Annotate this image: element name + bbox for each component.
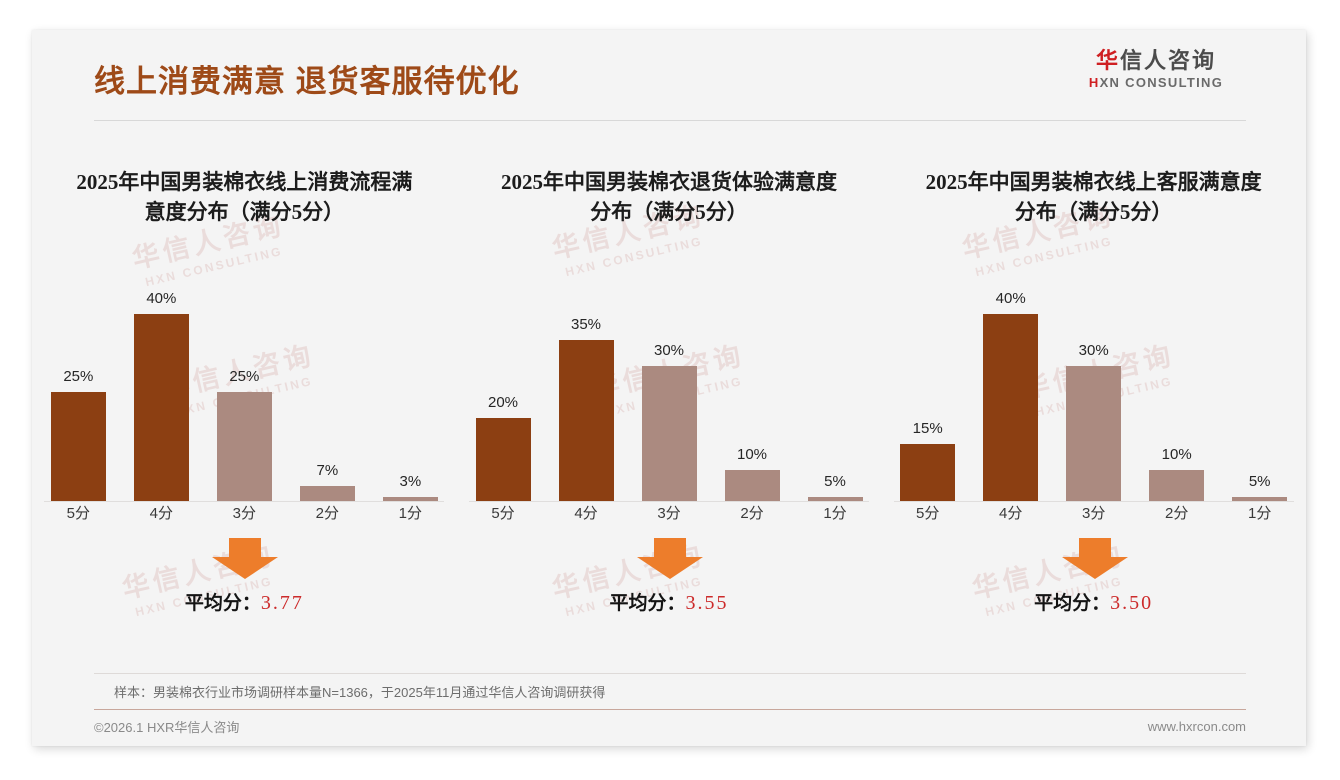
bar[interactable] [383, 497, 438, 501]
average-score-prefix: 平均分： [609, 593, 685, 614]
average-score-value: 3.77 [261, 592, 304, 614]
bar[interactable] [134, 314, 189, 501]
bar[interactable] [300, 486, 355, 501]
bar-group: 40% [127, 272, 195, 501]
bar-group: 25% [210, 272, 278, 501]
chart-panel-3: 2025年中国男装棉衣线上客服满意度分布（满分5分）15%40%30%10%5%… [881, 140, 1306, 670]
slide-header: 线上消费满意 退货客服待优化 华信人咨询 HXN CONSULTING [32, 30, 1306, 122]
arrow-shaft [229, 538, 261, 557]
header-divider [94, 120, 1246, 121]
footer-divider [94, 709, 1246, 710]
bar-value-label: 5% [1249, 473, 1271, 490]
bar-group: 7% [293, 272, 361, 501]
down-arrow-icon [212, 538, 278, 578]
footnote-divider [94, 673, 1246, 674]
bar-value-label: 30% [1079, 342, 1109, 359]
bar[interactable] [808, 497, 863, 501]
bar-group: 20% [469, 272, 537, 501]
average-score-text: 平均分：3.77 [44, 588, 444, 615]
x-axis-tick: 2分 [1143, 502, 1211, 523]
x-axis: 5分4分3分2分1分 [44, 502, 444, 523]
bar-series: 15%40%30%10%5% [894, 272, 1294, 502]
average-score-value: 3.50 [1110, 592, 1153, 614]
slide: 线上消费满意 退货客服待优化 华信人咨询 HXN CONSULTING 华信人咨… [32, 30, 1306, 746]
bar-group: 3% [376, 272, 444, 501]
charts-row: 2025年中国男装棉衣线上消费流程满意度分布（满分5分）25%40%25%7%3… [32, 140, 1306, 670]
bar[interactable] [1149, 470, 1204, 500]
average-score-block: 平均分：3.55 [469, 538, 869, 628]
average-score-prefix: 平均分： [185, 593, 261, 614]
bar-value-label: 25% [229, 368, 259, 385]
copyright-text: ©2026.1 HXR华信人咨询 [94, 717, 239, 736]
x-axis-tick: 1分 [801, 502, 869, 523]
average-score-text: 平均分：3.55 [469, 588, 869, 615]
bar-chart: 15%40%30%10%5%5分4分3分2分1分 [894, 252, 1294, 502]
arrow-head [212, 557, 278, 579]
x-axis-tick: 5分 [469, 502, 537, 523]
logo-english-rest: XN CONSULTING [1100, 75, 1224, 90]
x-axis: 5分4分3分2分1分 [469, 502, 869, 523]
logo-english-accent: H [1089, 75, 1100, 90]
bar[interactable] [559, 340, 614, 501]
bar-group: 30% [1060, 272, 1128, 501]
bar-series: 20%35%30%10%5% [469, 272, 869, 502]
average-score-value: 3.55 [686, 592, 729, 614]
bar[interactable] [725, 470, 780, 500]
bar-group: 10% [1143, 272, 1211, 501]
arrow-head [1062, 557, 1128, 579]
bar[interactable] [217, 392, 272, 501]
bar-chart: 20%35%30%10%5%5分4分3分2分1分 [469, 252, 869, 502]
bar-group: 40% [977, 272, 1045, 501]
chart-title: 2025年中国男装棉衣线上客服满意度分布（满分5分） [920, 168, 1268, 228]
bar-group: 30% [635, 272, 703, 501]
down-arrow-icon [1062, 538, 1128, 578]
arrow-head [637, 557, 703, 579]
logo-chinese: 华信人咨询 [1066, 48, 1246, 73]
bar-value-label: 40% [996, 290, 1026, 307]
chart-title: 2025年中国男装棉衣退货体验满意度分布（满分5分） [495, 168, 843, 228]
bar[interactable] [476, 418, 531, 501]
chart-title: 2025年中国男装棉衣线上消费流程满意度分布（满分5分） [70, 168, 418, 228]
bar-value-label: 10% [737, 446, 767, 463]
x-axis-tick: 4分 [977, 502, 1045, 523]
logo-chinese-rest: 信人咨询 [1120, 48, 1216, 73]
chart-panel-2: 2025年中国男装棉衣退货体验满意度分布（满分5分）20%35%30%10%5%… [457, 140, 882, 670]
page-title: 线上消费满意 退货客服待优化 [94, 56, 520, 101]
bar-value-label: 20% [488, 394, 518, 411]
bar[interactable] [1066, 366, 1121, 501]
x-axis-tick: 4分 [552, 502, 620, 523]
bar[interactable] [51, 392, 106, 501]
bar-chart: 25%40%25%7%3%5分4分3分2分1分 [44, 252, 444, 502]
x-axis-tick: 2分 [718, 502, 786, 523]
slide-footer: ©2026.1 HXR华信人咨询 www.hxrcon.com [94, 714, 1246, 738]
arrow-shaft [654, 538, 686, 557]
arrow-shaft [1079, 538, 1111, 557]
x-axis-tick: 2分 [293, 502, 361, 523]
bar-value-label: 7% [316, 462, 338, 479]
average-score-block: 平均分：3.50 [894, 538, 1294, 628]
bar-value-label: 30% [654, 342, 684, 359]
bar-group: 5% [801, 272, 869, 501]
bar-value-label: 5% [824, 473, 846, 490]
logo-chinese-accent: 华 [1096, 48, 1120, 73]
bar-series: 25%40%25%7%3% [44, 272, 444, 502]
x-axis-tick: 4分 [127, 502, 195, 523]
bar-value-label: 35% [571, 316, 601, 333]
average-score-text: 平均分：3.50 [894, 588, 1294, 615]
down-arrow-icon [637, 538, 703, 578]
average-score-prefix: 平均分： [1034, 593, 1110, 614]
bar[interactable] [900, 444, 955, 500]
logo-english: HXN CONSULTING [1066, 75, 1246, 90]
bar-group: 15% [894, 272, 962, 501]
bar-value-label: 40% [146, 290, 176, 307]
company-logo: 华信人咨询 HXN CONSULTING [1066, 48, 1246, 90]
bar-group: 25% [44, 272, 112, 501]
chart-panel-1: 2025年中国男装棉衣线上消费流程满意度分布（满分5分）25%40%25%7%3… [32, 140, 457, 670]
sample-footnote: 样本：男装棉衣行业市场调研样本量N=1366，于2025年11月通过华信人咨询调… [114, 682, 605, 701]
x-axis-tick: 5分 [44, 502, 112, 523]
bar-group: 5% [1226, 272, 1294, 501]
bar[interactable] [983, 314, 1038, 501]
bar-value-label: 15% [913, 420, 943, 437]
website-link[interactable]: www.hxrcon.com [1148, 719, 1246, 734]
bar-group: 10% [718, 272, 786, 501]
x-axis-tick: 3分 [1060, 502, 1128, 523]
x-axis-tick: 3分 [635, 502, 703, 523]
bar-value-label: 10% [1162, 446, 1192, 463]
bar[interactable] [642, 366, 697, 501]
x-axis-tick: 1分 [376, 502, 444, 523]
bar-value-label: 3% [399, 473, 421, 490]
x-axis: 5分4分3分2分1分 [894, 502, 1294, 523]
average-score-block: 平均分：3.77 [44, 538, 444, 628]
bar-group: 35% [552, 272, 620, 501]
x-axis-tick: 3分 [210, 502, 278, 523]
x-axis-tick: 1分 [1226, 502, 1294, 523]
bar-value-label: 25% [63, 368, 93, 385]
bar[interactable] [1232, 497, 1287, 501]
x-axis-tick: 5分 [894, 502, 962, 523]
